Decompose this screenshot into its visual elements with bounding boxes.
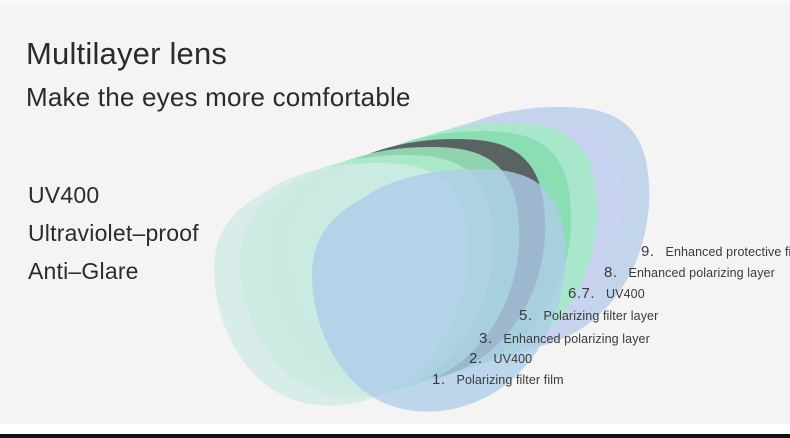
callout-5: 5. Polarizing filter layer (519, 307, 658, 324)
callout-6-7-label: UV400 (606, 287, 645, 301)
bottom-dark-rule (0, 434, 790, 438)
callout-3-label: Enhanced polarizing layer (504, 332, 650, 346)
callout-1-number: 1. (432, 371, 446, 388)
callout-5-label: Polarizing filter layer (544, 309, 659, 323)
callout-1-label: Polarizing filter film (457, 373, 564, 387)
callout-3-number: 3. (479, 330, 493, 347)
callout-5-number: 5. (519, 307, 533, 324)
callout-list: 9. Enhanced protective film 8. Enhanced … (0, 0, 790, 438)
callout-8-number: 8. (604, 264, 618, 281)
multilayer-lens-poster: Multilayer lens Make the eyes more comfo… (0, 0, 790, 438)
callout-2-number: 2. (469, 350, 483, 367)
callout-3: 3. Enhanced polarizing layer (479, 330, 650, 347)
callout-2: 2. UV400 (469, 350, 532, 367)
callout-9-label: Enhanced protective film (666, 245, 790, 259)
callout-8-label: Enhanced polarizing layer (629, 266, 775, 280)
bottom-white-strip (0, 424, 790, 434)
callout-2-label: UV400 (494, 352, 533, 366)
callout-6-7-number: 6.7. (568, 285, 595, 302)
callout-8: 8. Enhanced polarizing layer (604, 264, 775, 281)
callout-1: 1. Polarizing filter film (432, 371, 564, 388)
callout-6-7: 6.7. UV400 (568, 285, 645, 302)
callout-9-number: 9. (641, 243, 655, 260)
callout-9: 9. Enhanced protective film (641, 243, 790, 260)
